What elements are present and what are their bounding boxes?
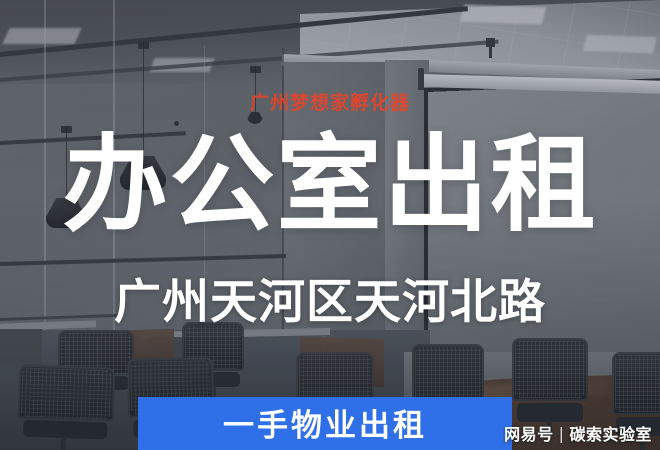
watermark-separator: |: [559, 424, 565, 443]
cta-banner[interactable]: 一手物业出租: [138, 397, 512, 450]
brand-tagline: 广州梦想家孵化器: [0, 88, 660, 115]
location-subtitle: 广州天河区天河北路: [0, 276, 660, 330]
cta-label: 一手物业出租: [223, 400, 427, 445]
page-title: 办公室出租: [0, 130, 660, 240]
promo-poster: 广州梦想家孵化器 办公室出租 广州天河区天河北路 一手物业出租 网易号 | 碳索…: [0, 0, 660, 450]
watermark-account: 碳索实验室: [569, 421, 652, 445]
watermark-platform: 网易号: [504, 421, 554, 445]
watermark: 网易号 | 碳索实验室: [504, 421, 652, 445]
